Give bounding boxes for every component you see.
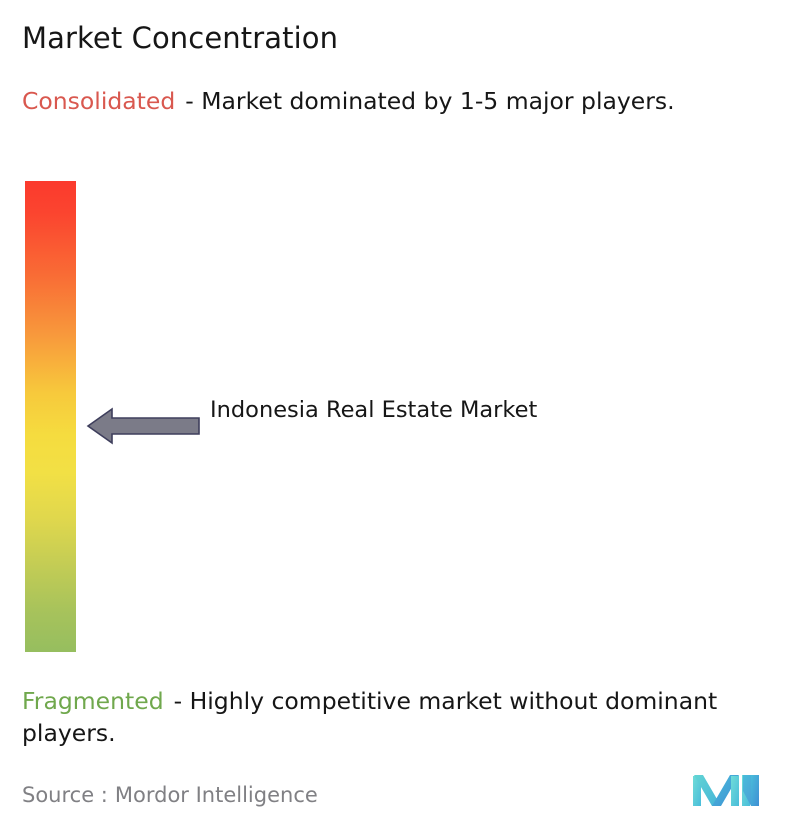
market-concentration-chart: Market Concentration Consolidated- Marke… [0,0,796,834]
marker-arrow [86,405,202,447]
consolidated-description: Consolidated- Market dominated by 1-5 ma… [22,85,774,117]
consolidated-text: Market dominated by 1-5 major players. [201,87,674,115]
consolidated-separator: - [185,87,193,115]
mordor-intelligence-logo-icon [692,772,760,812]
concentration-gradient-bar [25,181,76,652]
fragmented-keyword: Fragmented [22,687,164,715]
page-title: Market Concentration [22,21,338,55]
source-line: Source :Mordor Intelligence [22,783,318,807]
brand-logo [692,772,760,812]
marker-label: Indonesia Real Estate Market [210,393,610,428]
fragmented-description: Fragmented- Highly competitive market wi… [22,685,782,749]
source-value: Mordor Intelligence [115,783,318,807]
consolidated-keyword: Consolidated [22,87,175,115]
fragmented-separator: - [174,687,182,715]
source-label: Source : [22,783,108,807]
arrow-left-icon [86,405,202,447]
